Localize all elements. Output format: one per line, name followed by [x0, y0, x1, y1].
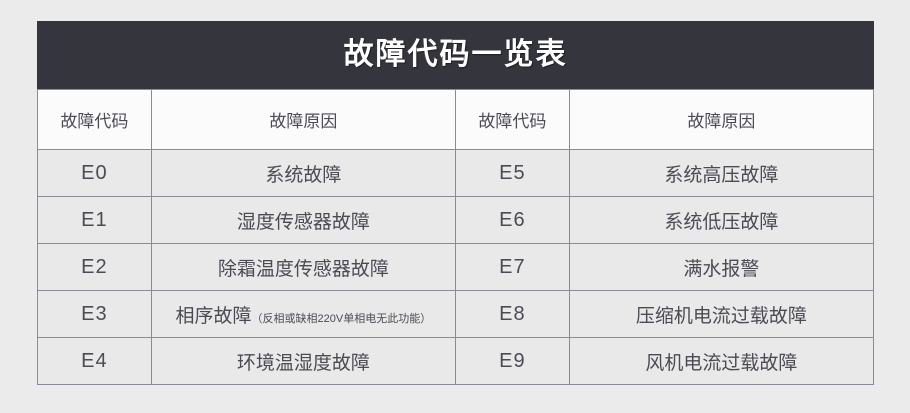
fault-code-card: 故障代码一览表 故障代码 故障原因 故障代码 故障原因 E0 系统故障 E5 系…	[37, 21, 874, 385]
code-value: E3	[81, 303, 107, 325]
table-row: E4 环境温湿度故障 E9 风机电流过载故障	[38, 338, 874, 385]
code-value: E7	[499, 256, 525, 278]
cell-reason-right: 满水报警	[569, 244, 873, 291]
header-cell-reason-left: 故障原因	[151, 90, 455, 150]
table-row: E1 湿度传感器故障 E6 系统低压故障	[38, 197, 874, 244]
header-cell-reason-right: 故障原因	[569, 90, 873, 150]
reason-value: 除霜温度传感器故障	[218, 259, 389, 280]
cell-code-right: E9	[455, 338, 569, 385]
reason-value: 系统低压故障	[664, 212, 778, 233]
code-value: E9	[499, 350, 525, 372]
header-cell-code-right: 故障代码	[455, 90, 569, 150]
code-value: E2	[81, 256, 107, 278]
code-value: E4	[81, 350, 107, 372]
table-body: 故障代码 故障原因 故障代码 故障原因 E0 系统故障 E5 系统高压故障 E1…	[38, 90, 874, 385]
cell-reason-left: 湿度传感器故障	[151, 197, 455, 244]
reason-value: 满水报警	[683, 259, 759, 280]
cell-reason-right: 系统高压故障	[569, 150, 873, 197]
reason-value: 系统高压故障	[664, 165, 778, 186]
cell-code-left: E1	[38, 197, 152, 244]
table-row: E0 系统故障 E5 系统高压故障	[38, 150, 874, 197]
code-value: E1	[81, 209, 107, 231]
code-value: E6	[499, 209, 525, 231]
table-row: E2 除霜温度传感器故障 E7 满水报警	[38, 244, 874, 291]
table-row: E3 相序故障（反相或缺相220V单相电无此功能） E8 压缩机电流过载故障	[38, 291, 874, 338]
reason-value: 压缩机电流过载故障	[636, 306, 807, 327]
cell-reason-left: 除霜温度传感器故障	[151, 244, 455, 291]
cell-reason-right: 压缩机电流过载故障	[569, 291, 873, 338]
cell-code-left: E4	[38, 338, 152, 385]
reason-value: 相序故障	[175, 306, 251, 327]
cell-reason-right: 系统低压故障	[569, 197, 873, 244]
header-cell-code-left: 故障代码	[38, 90, 152, 150]
cell-reason-left: 系统故障	[151, 150, 455, 197]
cell-code-right: E8	[455, 291, 569, 338]
reason-value: 系统故障	[265, 165, 341, 186]
page-root: 故障代码一览表 故障代码 故障原因 故障代码 故障原因 E0 系统故障 E5 系…	[0, 0, 910, 413]
fault-code-table: 故障代码 故障原因 故障代码 故障原因 E0 系统故障 E5 系统高压故障 E1…	[37, 89, 874, 385]
code-value: E0	[81, 162, 107, 184]
code-value: E8	[499, 303, 525, 325]
title-bar: 故障代码一览表	[37, 21, 874, 89]
cell-code-left: E2	[38, 244, 152, 291]
cell-code-left: E3	[38, 291, 152, 338]
cell-code-right: E7	[455, 244, 569, 291]
code-value: E5	[499, 162, 525, 184]
cell-code-right: E6	[455, 197, 569, 244]
cell-reason-left: 相序故障（反相或缺相220V单相电无此功能）	[151, 291, 455, 338]
reason-value: 湿度传感器故障	[237, 212, 370, 233]
page-title: 故障代码一览表	[344, 40, 568, 70]
cell-reason-left: 环境温湿度故障	[151, 338, 455, 385]
reason-value: 环境温湿度故障	[237, 353, 370, 374]
cell-code-right: E5	[455, 150, 569, 197]
reason-note: （反相或缺相220V单相电无此功能）	[252, 313, 432, 325]
cell-code-left: E0	[38, 150, 152, 197]
reason-value: 风机电流过载故障	[645, 353, 797, 374]
table-header-row: 故障代码 故障原因 故障代码 故障原因	[38, 90, 874, 150]
cell-reason-right: 风机电流过载故障	[569, 338, 873, 385]
